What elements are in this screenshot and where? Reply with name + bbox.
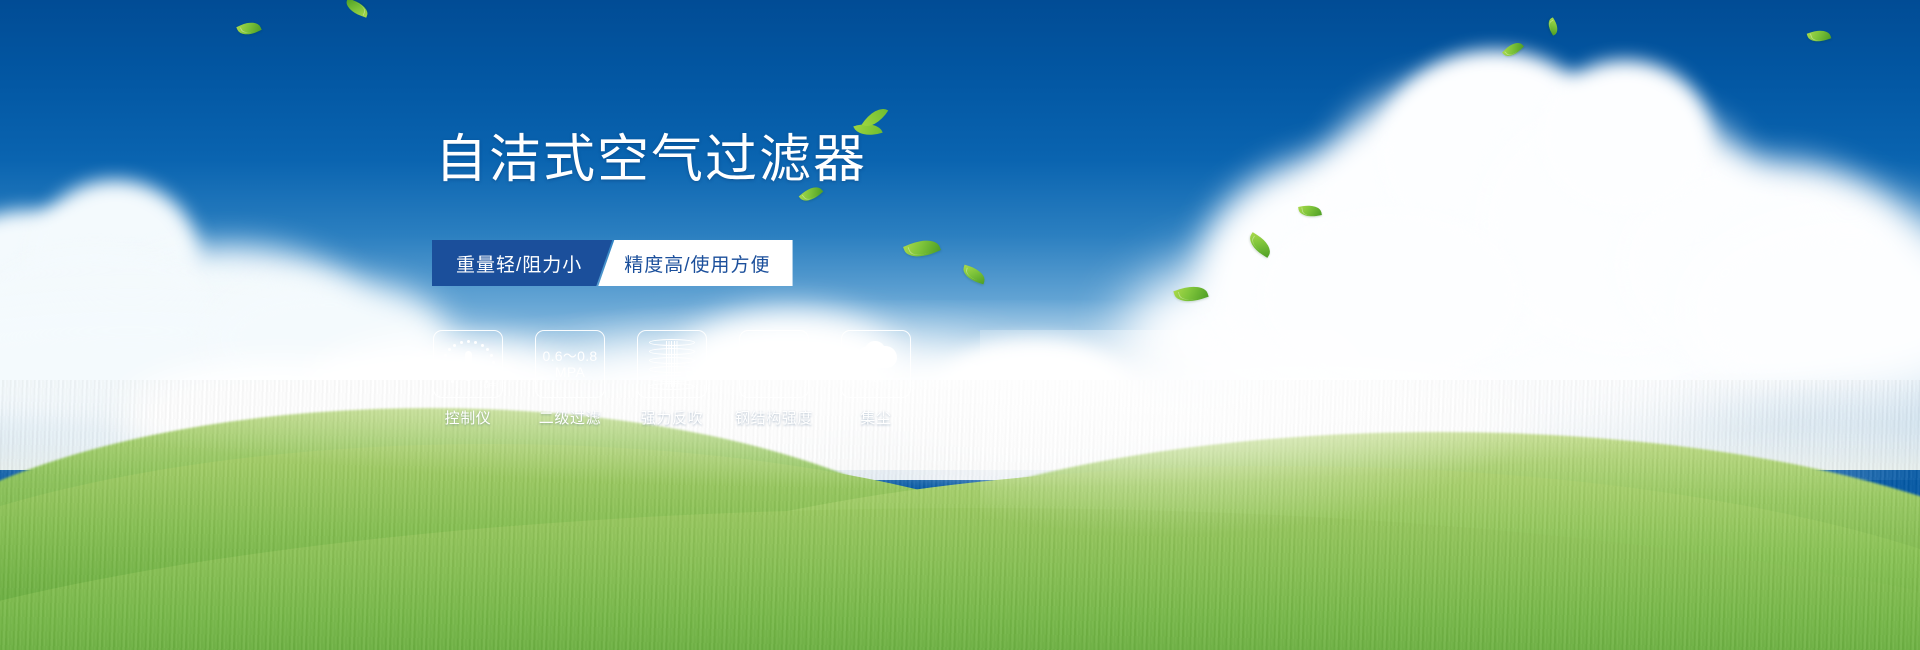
feature-label: 控制仪 (445, 407, 492, 428)
leaf-accent-icon (845, 108, 887, 138)
feature-icon-box: NO OFF (433, 330, 503, 398)
feature-item-pressure[interactable]: 0.6～0.8 MPA 二级过滤 (532, 330, 608, 428)
feature-label: 集尘 (860, 407, 891, 428)
feature-icon-box: Air (841, 330, 911, 398)
tagline-tab-secondary[interactable]: 精度高/使用方便 (598, 240, 792, 286)
feature-icon-box: 0.6～0.8 MPA (535, 330, 605, 398)
banner-content: 自洁式空气过滤器 重量轻/阻力小 精度高/使用方便 (0, 0, 1920, 650)
page-title: 自洁式空气过滤器 (435, 134, 867, 186)
gauge-label-no: NO (440, 365, 450, 371)
steel-text-icon: 3～8MM 钢板 (747, 348, 801, 380)
feature-label: 二级过滤 (539, 407, 601, 428)
feature-label: 强力反吹 (641, 407, 703, 428)
gauge-needle (465, 351, 472, 381)
feature-label: 钢结构强度 (735, 407, 813, 428)
feature-item-steel[interactable]: 3～8MM 钢板 钢结构强度 (736, 330, 812, 428)
air-cloud-icon: Air (851, 342, 901, 386)
feature-item-dust[interactable]: Air 集尘 (838, 330, 914, 428)
feature-list: NO OFF 控制仪 0.6～0.8 MPA 二级过滤 (430, 330, 914, 428)
feature-item-controller[interactable]: NO OFF 控制仪 (430, 330, 506, 428)
feature-icon-box (637, 330, 707, 398)
gauge-label-off: OFF (484, 384, 498, 390)
feature-icon-box: 3～8MM 钢板 (739, 330, 809, 398)
tagline-tab-primary[interactable]: 重量轻/阻力小 (432, 240, 612, 286)
pressure-text-icon: 0.6～0.8 MPA (542, 348, 597, 380)
gauge-icon: NO OFF (441, 339, 495, 389)
air-label: Air (851, 374, 901, 385)
feature-item-backblow[interactable]: 强力反吹 (634, 330, 710, 428)
tagline-tabs: 重量轻/阻力小 精度高/使用方便 (432, 240, 793, 286)
pleated-filter-icon (649, 338, 695, 390)
